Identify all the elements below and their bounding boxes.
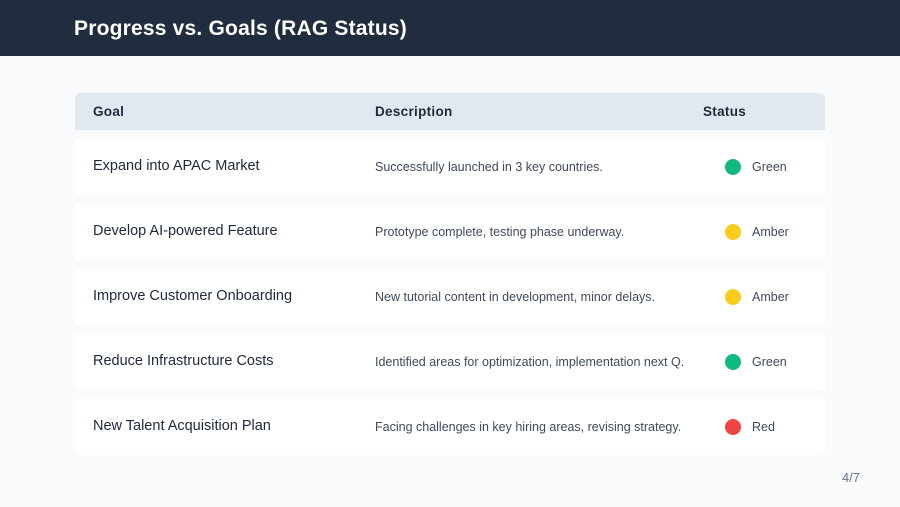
status-label: Red bbox=[752, 420, 775, 434]
description-cell: Prototype complete, testing phase underw… bbox=[375, 223, 725, 241]
slide-header: Progress vs. Goals (RAG Status) bbox=[0, 0, 900, 56]
page-indicator: 4/7 bbox=[842, 470, 860, 485]
status-dot-icon bbox=[725, 419, 741, 435]
column-header-status: Status bbox=[703, 104, 809, 119]
status-label: Green bbox=[752, 160, 787, 174]
status-cell: Amber bbox=[725, 289, 831, 305]
status-label: Green bbox=[752, 355, 787, 369]
description-cell: Facing challenges in key hiring areas, r… bbox=[375, 418, 725, 436]
status-cell: Green bbox=[725, 159, 831, 175]
description-cell: Successfully launched in 3 key countries… bbox=[375, 158, 725, 176]
goal-cell: Improve Customer Onboarding bbox=[93, 287, 375, 307]
goal-cell: Reduce Infrastructure Costs bbox=[93, 352, 375, 372]
status-label: Amber bbox=[752, 225, 789, 239]
status-cell: Green bbox=[725, 354, 831, 370]
table-row: Expand into APAC MarketSuccessfully laun… bbox=[75, 139, 825, 195]
table-header-row: Goal Description Status bbox=[75, 93, 825, 130]
goal-cell: New Talent Acquisition Plan bbox=[93, 417, 375, 437]
goal-cell: Expand into APAC Market bbox=[93, 157, 375, 177]
status-dot-icon bbox=[725, 224, 741, 240]
description-cell: Identified areas for optimization, imple… bbox=[375, 353, 725, 371]
table-row: Develop AI-powered FeaturePrototype comp… bbox=[75, 204, 825, 260]
status-label: Amber bbox=[752, 290, 789, 304]
page-title: Progress vs. Goals (RAG Status) bbox=[74, 18, 407, 39]
rag-status-table: Goal Description Status Expand into APAC… bbox=[75, 93, 825, 455]
table-row: New Talent Acquisition PlanFacing challe… bbox=[75, 399, 825, 455]
column-header-goal: Goal bbox=[93, 104, 375, 119]
table-row: Reduce Infrastructure CostsIdentified ar… bbox=[75, 334, 825, 390]
table-row: Improve Customer OnboardingNew tutorial … bbox=[75, 269, 825, 325]
status-dot-icon bbox=[725, 354, 741, 370]
description-cell: New tutorial content in development, min… bbox=[375, 288, 725, 306]
column-header-description: Description bbox=[375, 104, 703, 119]
status-cell: Red bbox=[725, 419, 831, 435]
table-body: Expand into APAC MarketSuccessfully laun… bbox=[75, 139, 825, 455]
status-cell: Amber bbox=[725, 224, 831, 240]
slide-body: Goal Description Status Expand into APAC… bbox=[0, 56, 900, 455]
status-dot-icon bbox=[725, 159, 741, 175]
status-dot-icon bbox=[725, 289, 741, 305]
goal-cell: Develop AI-powered Feature bbox=[93, 222, 375, 242]
